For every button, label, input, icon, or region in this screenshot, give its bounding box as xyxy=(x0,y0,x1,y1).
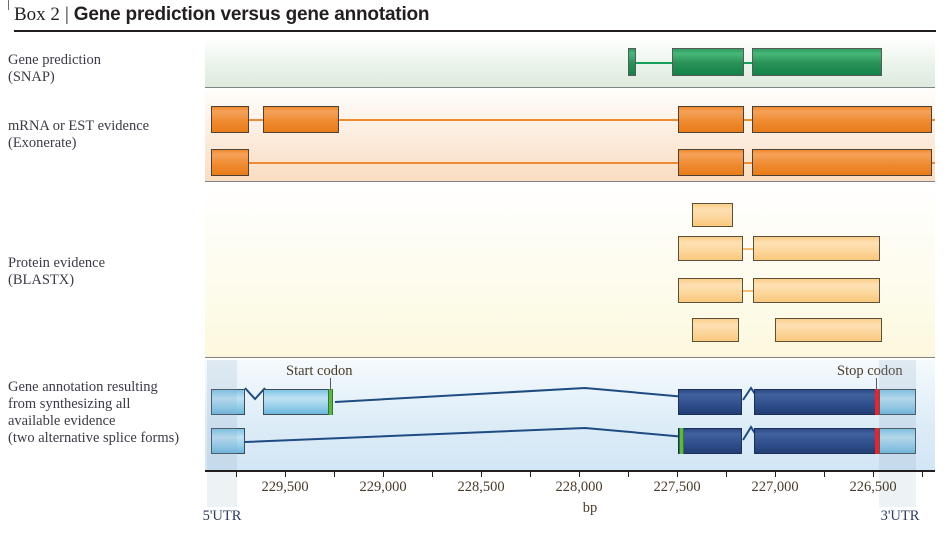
form2-cds-2 xyxy=(754,428,878,454)
form1-splice-chevron-1 xyxy=(245,384,265,404)
row-label-protein-evidence: Protein evidence (BLASTX) xyxy=(8,255,203,289)
form1-start-codon-tick xyxy=(330,378,331,390)
axis-tick-label: 226,500 xyxy=(849,479,896,496)
form2-intron-long xyxy=(245,422,697,446)
blastx3-block-1 xyxy=(678,278,743,303)
track-mrna-est-evidence xyxy=(205,90,935,182)
blastx2-block-2 xyxy=(753,236,880,261)
row-label-line: Gene annotation resulting xyxy=(8,379,203,396)
axis-tick-label: 228,000 xyxy=(555,479,602,496)
utr3-label: 3'UTR xyxy=(881,508,920,525)
snap-exon-1 xyxy=(628,48,636,76)
axis-tick xyxy=(579,470,580,477)
axis-tick xyxy=(726,470,727,477)
row-label-gene-annotation: Gene annotation resulting from synthesiz… xyxy=(8,379,203,447)
form2-start-codon-marker xyxy=(679,428,684,454)
axis-tick-label: 229,500 xyxy=(261,479,308,496)
axis-tick xyxy=(432,470,433,477)
track-gene-prediction xyxy=(205,38,935,88)
form2-cds-1 xyxy=(678,428,742,454)
axis-tick xyxy=(481,470,482,477)
title-rule xyxy=(14,30,936,32)
axis-tick xyxy=(824,470,825,477)
row-label-line: Protein evidence xyxy=(8,255,203,272)
blastx4-block-2 xyxy=(775,318,882,342)
form1-cds-2 xyxy=(754,389,878,415)
row-label-line: from synthesizing all xyxy=(8,396,203,413)
axis-tick xyxy=(236,470,237,477)
blastx4-block-1 xyxy=(692,318,739,342)
blastx2-block-1 xyxy=(678,236,743,261)
axis-tick xyxy=(383,470,384,477)
axis-tick xyxy=(922,470,923,477)
utr5-foot-band xyxy=(207,471,237,507)
row-label-line: (SNAP) xyxy=(8,69,203,86)
mrna1-exon-3 xyxy=(678,106,744,133)
axis-tick xyxy=(677,470,678,477)
row-label-mrna-evidence: mRNA or EST evidence (Exonerate) xyxy=(8,118,203,152)
form1-cds-1 xyxy=(678,389,742,415)
mrna1-exon-2 xyxy=(263,106,339,133)
row-label-gene-prediction: Gene prediction (SNAP) xyxy=(8,52,203,86)
mrna2-exon-1 xyxy=(211,149,249,176)
track-protein-evidence xyxy=(205,183,935,358)
mrna2-exon-3 xyxy=(752,149,932,176)
utr5-label: 5'UTR xyxy=(203,508,242,525)
utr5-highlight-band xyxy=(207,360,237,471)
form1-stop-codon-tick xyxy=(876,378,877,390)
box-number: Box 2 xyxy=(14,4,60,26)
form1-utr5-exon-2 xyxy=(263,389,333,415)
axis-tick xyxy=(775,470,776,477)
axis-tick xyxy=(334,470,335,477)
title-separator: | xyxy=(65,4,69,26)
axis-tick xyxy=(530,470,531,477)
row-label-line: (BLASTX) xyxy=(8,272,203,289)
row-label-line: mRNA or EST evidence xyxy=(8,118,203,135)
axis-line xyxy=(205,470,935,472)
blastx3-block-2 xyxy=(753,278,880,303)
axis-tick-label: 227,500 xyxy=(653,479,700,496)
axis-tick xyxy=(628,470,629,477)
form1-start-codon-marker xyxy=(328,389,333,415)
mrna1-exon-1 xyxy=(211,106,249,133)
mrna2-exon-2 xyxy=(678,149,744,176)
box-title: Box 2 | Gene prediction versus gene anno… xyxy=(14,4,936,32)
track-gene-annotation: Start codon Stop codon xyxy=(205,360,935,471)
axis-unit-label: bp xyxy=(583,500,598,517)
start-codon-label: Start codon xyxy=(286,363,352,380)
row-label-line: (two alternative splice forms) xyxy=(8,430,203,447)
snap-exon-3 xyxy=(752,48,882,76)
axis-tick-label: 229,000 xyxy=(359,479,406,496)
form1-intron-long xyxy=(335,384,697,406)
blastx1-block-1 xyxy=(692,203,733,227)
row-label-line: (Exonerate) xyxy=(8,135,203,152)
axis-tick-label: 227,000 xyxy=(751,479,798,496)
row-label-line: available evidence xyxy=(8,413,203,430)
axis-tick xyxy=(873,470,874,477)
mrna1-exon-4 xyxy=(752,106,932,133)
snap-exon-2 xyxy=(672,48,744,76)
utr3-highlight-band xyxy=(879,360,916,471)
box-heading: Gene prediction versus gene annotation xyxy=(74,4,430,26)
axis-tick xyxy=(285,470,286,477)
axis-tick-label: 228,500 xyxy=(457,479,504,496)
row-label-line: Gene prediction xyxy=(8,52,203,69)
